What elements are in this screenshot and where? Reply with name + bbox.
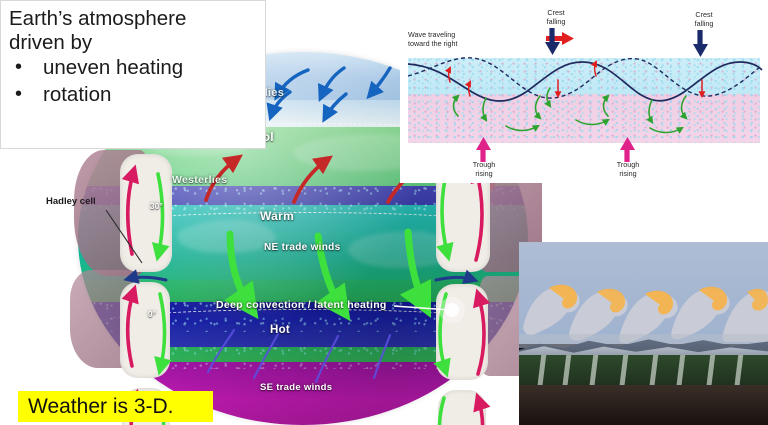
wave-label-crest-falling-1: Crest falling [528,8,584,26]
slide-canvas: Polar easterlies Cool Westerlies Warm NE… [0,0,768,425]
textbox-line-1: Earth’s atmosphere [9,7,257,31]
cloud-billow-row [519,285,768,348]
textbox-bullet-list: uneven heating rotation [9,55,257,108]
wave-label-trough-rising-2: Trough rising [600,160,656,178]
kelvin-helmholtz-photo [519,242,768,425]
trough-rising-arrows [476,137,635,162]
weather-is-3d-banner: Weather is 3-D. [18,391,213,422]
wave-dashed-curve [408,58,762,98]
wave-label-traveling-right: Wave traveling toward the right [408,30,488,48]
photo-foreground-terrain [519,385,768,425]
wave-diagram-panel: Wave traveling toward the right Crest fa… [400,0,768,183]
title-textbox: Earth’s atmosphere driven by uneven heat… [0,0,266,149]
textbox-line-2: driven by [9,31,257,55]
hadley-cell-callout-label: Hadley cell [46,196,96,207]
wave-label-trough-rising-1: Trough rising [456,160,512,178]
crest-falling-arrows [545,28,708,57]
banner-text: Weather is 3-D. [28,395,174,419]
wave-label-crest-falling-2: Crest falling [676,10,732,28]
wave-solid-curve [408,62,762,101]
textbox-bullet-rotation: rotation [9,82,257,109]
textbox-bullet-uneven-heating: uneven heating [9,55,257,82]
wave-green-parcel-arrows [454,88,687,133]
